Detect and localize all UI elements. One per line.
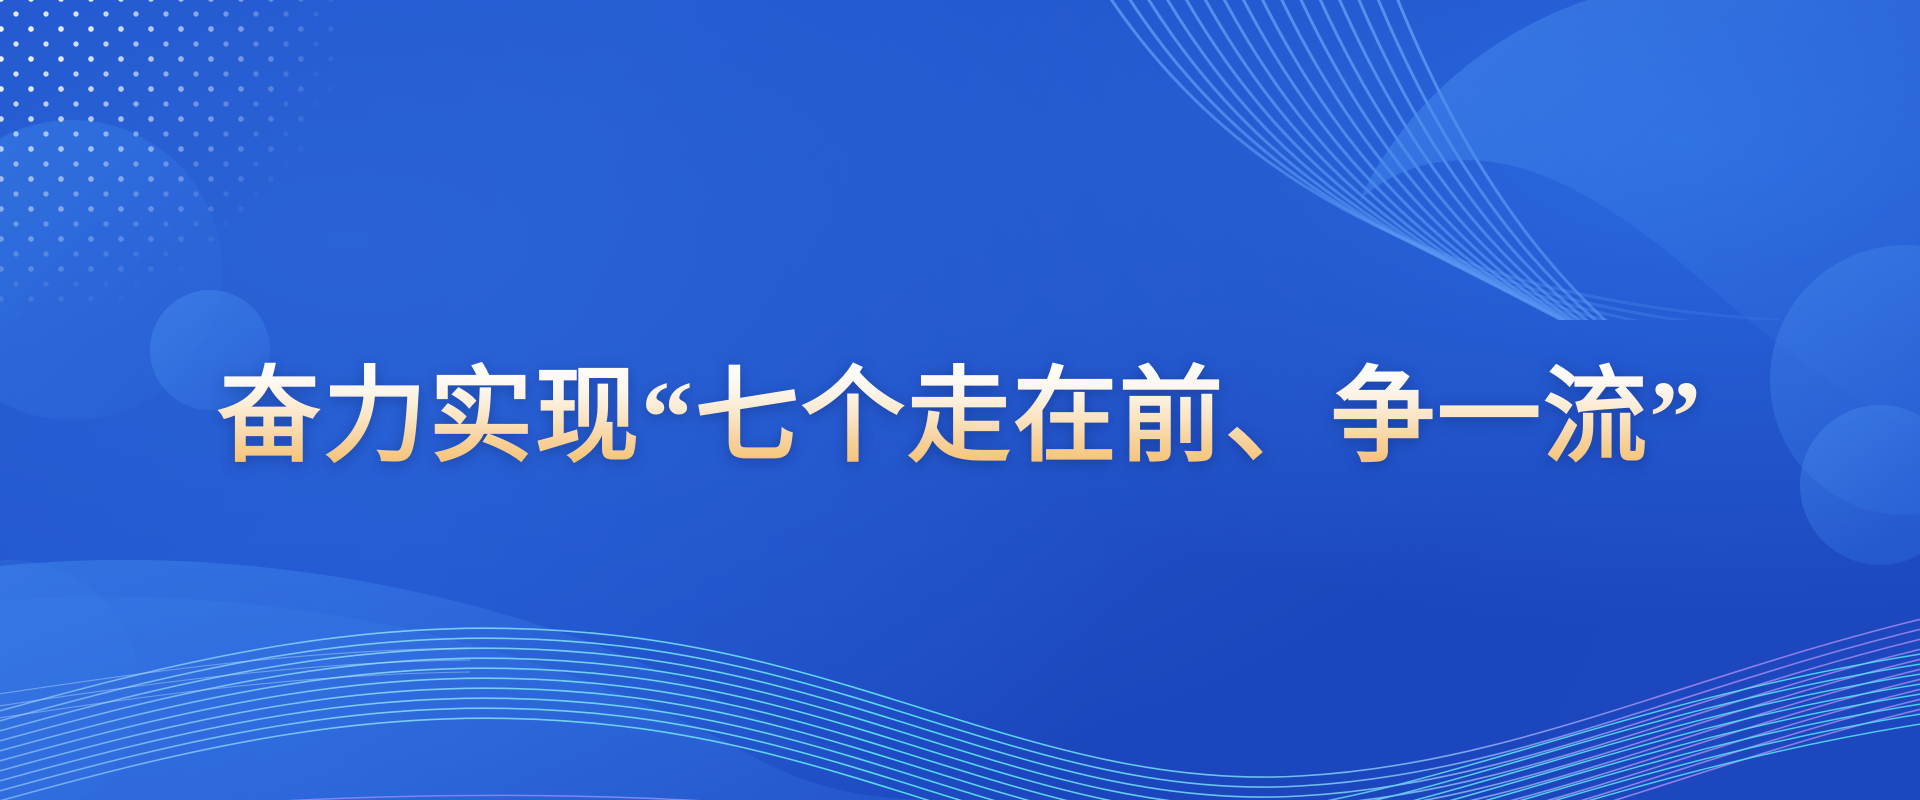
promotional-banner: 奋力实现“七个走在前、争一流” [0,0,1920,800]
title-container: 奋力实现“七个走在前、争一流” [0,0,1920,800]
banner-headline: 奋力实现“七个走在前、争一流” [217,360,1703,476]
